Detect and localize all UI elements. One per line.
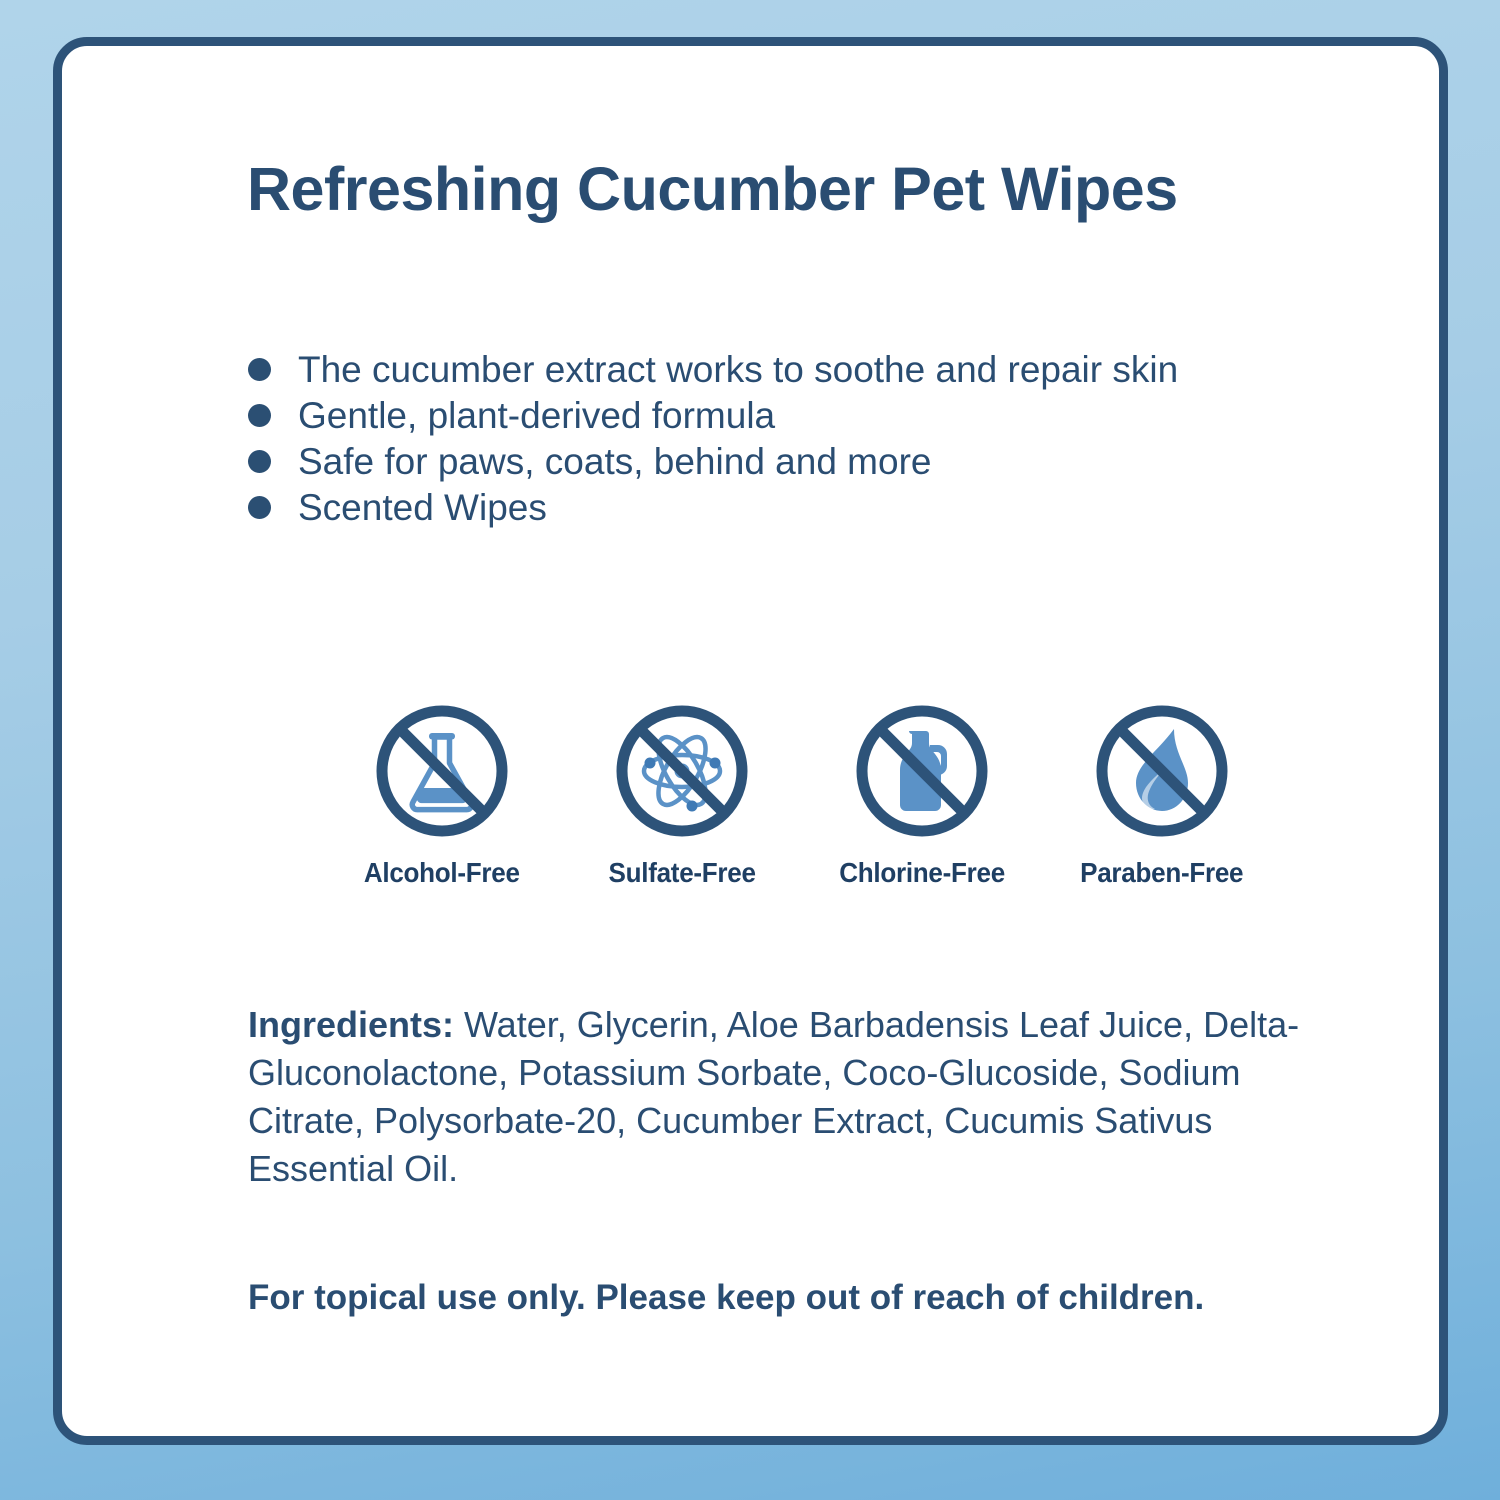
badge-label: Chlorine-Free	[839, 857, 1005, 889]
feature-text: Gentle, plant-derived formula	[298, 397, 775, 434]
badge-label: Alcohol-Free	[364, 857, 520, 889]
bullet-dot-icon	[248, 496, 271, 519]
feature-text: Safe for paws, coats, behind and more	[298, 443, 931, 480]
no-droplet-icon	[1092, 701, 1232, 841]
ingredients-label: Ingredients:	[248, 1004, 454, 1045]
bullet-dot-icon	[248, 358, 271, 381]
badge-chlorine-free: Chlorine-Free	[802, 701, 1042, 889]
content-card: Refreshing Cucumber Pet Wipes The cucumb…	[53, 37, 1448, 1445]
list-item: Scented Wipes	[248, 484, 1398, 530]
no-jug-icon	[852, 701, 992, 841]
bullet-dot-icon	[248, 404, 271, 427]
badge-paraben-free: Paraben-Free	[1042, 701, 1282, 889]
bullet-dot-icon	[248, 450, 271, 473]
page-title: Refreshing Cucumber Pet Wipes	[247, 154, 1427, 224]
usage-warning: For topical use only. Please keep out of…	[248, 1278, 1398, 1318]
feature-text: The cucumber extract works to soothe and…	[298, 351, 1178, 388]
badge-label: Paraben-Free	[1080, 857, 1243, 889]
list-item: Safe for paws, coats, behind and more	[248, 438, 1398, 484]
no-atom-icon	[612, 701, 752, 841]
list-item: The cucumber extract works to soothe and…	[248, 346, 1398, 392]
ingredients-block: Ingredients: Water, Glycerin, Aloe Barba…	[248, 1001, 1308, 1193]
badge-sulfate-free: Sulfate-Free	[562, 701, 802, 889]
feature-list: The cucumber extract works to soothe and…	[248, 346, 1398, 530]
list-item: Gentle, plant-derived formula	[248, 392, 1398, 438]
product-info-graphic: Refreshing Cucumber Pet Wipes The cucumb…	[0, 0, 1500, 1500]
no-flask-icon	[372, 701, 512, 841]
badge-alcohol-free: Alcohol-Free	[322, 701, 562, 889]
feature-text: Scented Wipes	[298, 489, 547, 526]
free-from-badges: Alcohol-Free Sulfate-Free	[322, 701, 1322, 889]
badge-label: Sulfate-Free	[608, 857, 755, 889]
